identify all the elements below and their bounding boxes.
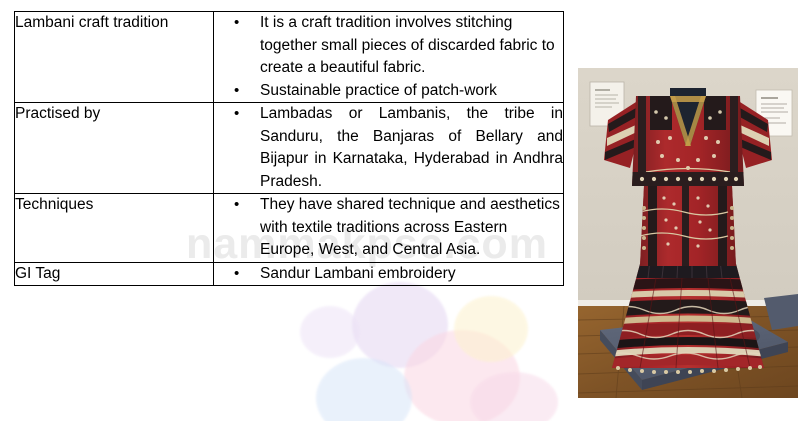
table-row: Lambani craft tradition It is a craft tr… xyxy=(15,12,564,103)
row-content-cell: They have shared technique and aesthetic… xyxy=(214,194,564,263)
table-row: GI Tag Sandur Lambani embroidery xyxy=(15,262,564,286)
row-label: Practised by xyxy=(15,103,213,124)
list-item: Lambadas or Lambanis, the tribe in Sandu… xyxy=(214,103,563,193)
row-label-cell: Lambani craft tradition xyxy=(15,12,214,103)
bullet-list: They have shared technique and aesthetic… xyxy=(214,194,563,262)
decor-blob-magenta xyxy=(470,372,558,421)
row-label-cell: Practised by xyxy=(15,103,214,194)
decor-blob-pink xyxy=(404,330,520,421)
row-label: GI Tag xyxy=(15,263,213,284)
row-content-cell: Sandur Lambani embroidery xyxy=(214,262,564,286)
row-content-cell: It is a craft tradition involves stitchi… xyxy=(214,12,564,103)
bullet-list: Lambadas or Lambanis, the tribe in Sandu… xyxy=(214,103,563,193)
list-item: It is a craft tradition involves stitchi… xyxy=(214,12,563,80)
decor-blob-yellow xyxy=(454,296,528,362)
row-label-cell: Techniques xyxy=(15,194,214,263)
decor-blob-blue xyxy=(316,358,412,421)
row-label-cell: GI Tag xyxy=(15,262,214,286)
bullet-list: Sandur Lambani embroidery xyxy=(214,263,563,286)
list-item: Sandur Lambani embroidery xyxy=(214,263,563,286)
bullet-list: It is a craft tradition involves stitchi… xyxy=(214,12,563,102)
decor-blob-lilac xyxy=(300,306,360,358)
list-item: Sustainable practice of patch-work xyxy=(214,80,563,103)
list-item: They have shared technique and aesthetic… xyxy=(214,194,563,262)
table-row: Techniques They have shared technique an… xyxy=(15,194,564,263)
decor-blob-purple xyxy=(352,282,448,368)
lambani-dress-photo xyxy=(578,68,798,398)
row-content-cell: Lambadas or Lambanis, the tribe in Sandu… xyxy=(214,103,564,194)
row-label: Lambani craft tradition xyxy=(15,12,213,33)
lambani-info-table: Lambani craft tradition It is a craft tr… xyxy=(14,11,564,286)
table-row: Practised by Lambadas or Lambanis, the t… xyxy=(15,103,564,194)
row-label: Techniques xyxy=(15,194,213,215)
